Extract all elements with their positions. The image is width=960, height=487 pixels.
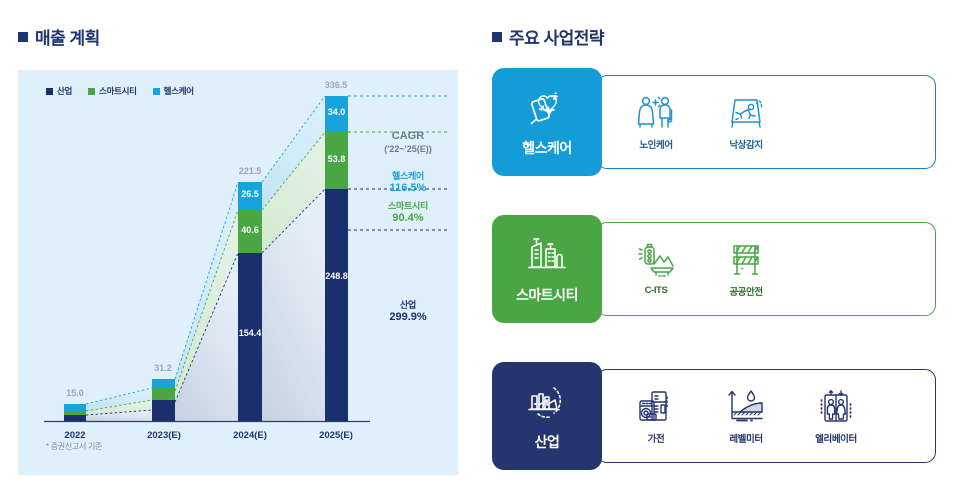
strategy-card-industry-body: 가전 레벨미터 — [596, 369, 936, 463]
cagr-heading-sub: ('22~'25(E)) — [363, 144, 453, 155]
revenue-chart-panel: 산업 스마트시티 헬스케어 — [18, 70, 458, 475]
cagr-block-healthcare: 헬스케어 116.5% — [363, 171, 453, 196]
smart-buildings-icon — [524, 234, 570, 279]
feature-fall-detection[interactable]: 낙상감지 — [715, 94, 777, 151]
page-title-strategy: 주요 사업전략 — [492, 24, 604, 49]
safety-barrier-icon — [726, 241, 766, 279]
cagr-heading-main: CAGR — [363, 130, 453, 144]
strategy-card-industry-badge[interactable]: 산업 — [492, 362, 602, 470]
cagr-value: 116.5% — [363, 182, 453, 196]
traffic-light-road-icon — [635, 242, 677, 280]
heart-phone-signal-icon — [522, 87, 572, 132]
bar-2022-smartcity — [64, 411, 86, 415]
x-label-2023: 2023(E) — [138, 430, 190, 441]
bar-2023-smartcity — [152, 388, 175, 400]
feature-elevator[interactable]: 엘리베이터 — [805, 388, 867, 445]
total-label-2023: 31.2 — [143, 363, 183, 373]
feature-home-appliance[interactable]: 가전 — [625, 388, 687, 445]
elevator-icon — [815, 388, 857, 426]
strategy-card-industry[interactable]: 산업 — [492, 362, 942, 470]
segment-label-2025-industry: 248.8 — [325, 271, 348, 281]
strategy-card-healthcare-badge[interactable]: 헬스케어 — [492, 68, 602, 176]
bullet-square-icon — [492, 32, 502, 42]
total-label-2025: 336.5 — [315, 80, 357, 90]
bullet-square-icon — [18, 32, 28, 42]
feature-caption: 낙상감지 — [729, 137, 762, 151]
level-meter-icon — [725, 388, 767, 426]
chart-footnote: * 증권신고서 기준 — [46, 441, 102, 452]
page-title-revenue-plan: 매출 계획 — [18, 24, 100, 49]
elderly-couple-icon — [636, 94, 676, 132]
bar-2023-industry — [152, 400, 175, 421]
cagr-block-smartcity: 스마트시티 90.4% — [363, 201, 453, 226]
feature-caption: 노인케어 — [639, 137, 672, 151]
feature-public-safety[interactable]: 공공안전 — [715, 241, 777, 298]
feature-cits[interactable]: C-ITS — [625, 242, 687, 296]
strategy-card-healthcare-label: 헬스케어 — [522, 138, 572, 158]
strategy-card-industry-label: 산업 — [535, 432, 560, 452]
cagr-block-industry: 산업 299.9% — [363, 300, 453, 325]
cagr-heading: CAGR ('22~'25(E)) — [363, 130, 453, 155]
cagr-value: 90.4% — [363, 212, 453, 226]
home-appliance-icon — [634, 388, 678, 426]
strategy-card-smartcity-body: C-ITS 공공안전 — [596, 222, 936, 316]
x-label-2024: 2024(E) — [224, 430, 276, 441]
bar-2022-industry — [64, 415, 86, 421]
slide-root: 매출 계획 주요 사업전략 산업 스마트시티 헬스케어 — [0, 0, 960, 487]
total-label-2022: 15.0 — [55, 388, 95, 398]
bar-2023-healthcare — [152, 379, 175, 388]
segment-label-2025-smartcity: 53.8 — [325, 154, 348, 164]
segment-label-2024-industry: 154.4 — [238, 328, 262, 338]
x-label-2025: 2025(E) — [310, 430, 362, 441]
segment-label-2024-smartcity: 40.6 — [238, 225, 262, 235]
bar-2025-industry — [325, 189, 348, 421]
strategy-card-smartcity-label: 스마트시티 — [516, 285, 578, 305]
cagr-value: 299.9% — [363, 311, 453, 325]
total-label-2024: 221.5 — [229, 166, 271, 176]
page-title-strategy-label: 주요 사업전략 — [509, 24, 604, 49]
cagr-name: 스마트시티 — [363, 201, 453, 212]
feature-caption: 공공안전 — [729, 284, 762, 298]
fall-detection-icon — [726, 94, 766, 132]
strategy-card-smartcity[interactable]: 스마트시티 — [492, 215, 942, 323]
feature-caption: 엘리베이터 — [815, 431, 857, 445]
segment-label-2024-healthcare: 26.5 — [238, 189, 262, 199]
cagr-name: 산업 — [363, 300, 453, 311]
segment-label-2025-healthcare: 34.0 — [325, 107, 348, 117]
strategy-card-smartcity-badge[interactable]: 스마트시티 — [492, 215, 602, 323]
factory-icon — [523, 381, 571, 426]
cagr-name: 헬스케어 — [363, 171, 453, 182]
feature-caption: 레벨미터 — [729, 431, 762, 445]
strategy-card-healthcare-body: 노인케어 낙상감지 — [596, 75, 936, 169]
feature-elderly-care[interactable]: 노인케어 — [625, 94, 687, 151]
feature-level-meter[interactable]: 레벨미터 — [715, 388, 777, 445]
x-label-2022: 2022 — [55, 430, 95, 441]
strategy-card-healthcare[interactable]: 헬스케어 노인케어 — [492, 68, 942, 176]
feature-caption: C-ITS — [645, 285, 668, 296]
feature-caption: 가전 — [648, 431, 665, 445]
page-title-revenue-plan-label: 매출 계획 — [35, 24, 100, 49]
bar-2022-healthcare — [64, 404, 86, 411]
